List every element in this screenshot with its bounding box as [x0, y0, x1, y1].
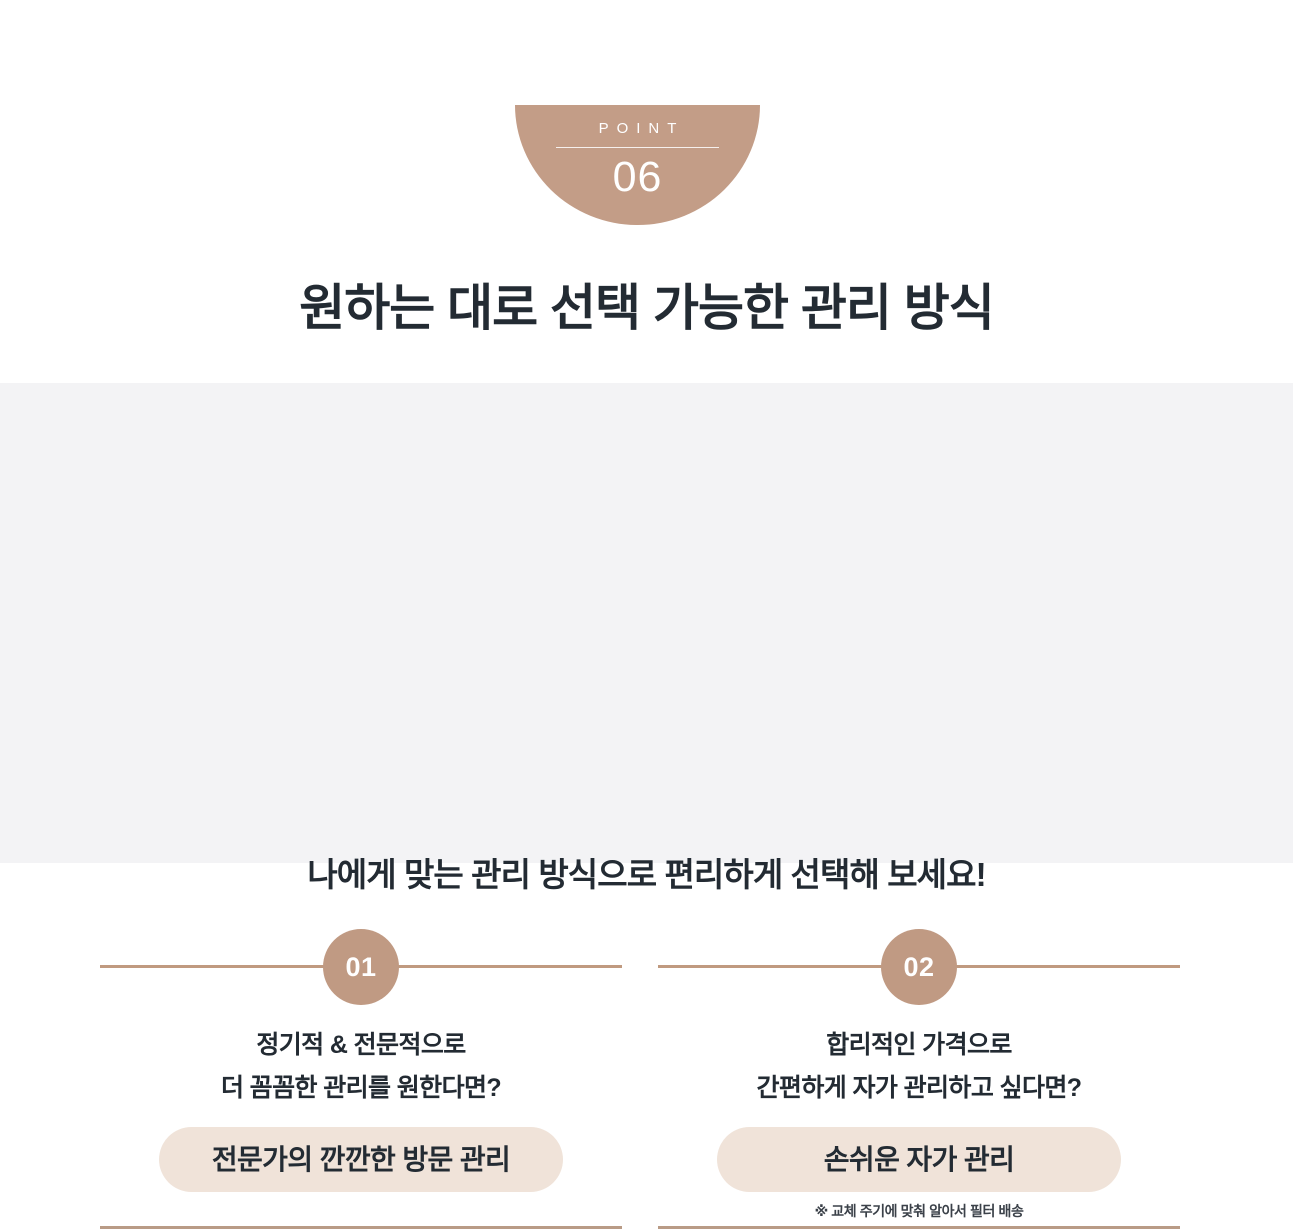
selection-panel: 나에게 맞는 관리 방식으로 편리하게 선택해 보세요! 01 정기적 & 전문… [0, 383, 1293, 863]
card-list: 01 정기적 & 전문적으로 더 꼼꼼한 관리를 원한다면? 전문가의 깐깐한 … [100, 965, 1180, 1229]
card-number-badge: 02 [881, 929, 957, 1005]
option-card-01[interactable]: 01 정기적 & 전문적으로 더 꼼꼼한 관리를 원한다면? 전문가의 깐깐한 … [100, 965, 622, 1229]
point-label: POINT [591, 121, 685, 136]
select-self-care-button[interactable]: 손쉬운 자가 관리 [717, 1127, 1121, 1192]
hero-section: POINT 06 원하는 대로 선택 가능한 관리 방식 [0, 0, 1293, 383]
point-badge-content: POINT 06 [515, 105, 760, 225]
point-badge: POINT 06 [515, 105, 760, 225]
card-heading-line-2: 더 꼼꼼한 관리를 원한다면? [221, 1074, 501, 1102]
card-heading-line-1: 합리적인 가격으로 [826, 1031, 1012, 1059]
point-divider [556, 147, 719, 148]
card-heading-line-2: 간편하게 자가 관리하고 싶다면? [757, 1074, 1082, 1102]
point-number: 06 [613, 156, 663, 199]
option-card-02[interactable]: 02 합리적인 가격으로 간편하게 자가 관리하고 싶다면? 손쉬운 자가 관리… [658, 965, 1180, 1229]
select-expert-care-button[interactable]: 전문가의 깐깐한 방문 관리 [159, 1127, 563, 1192]
card-heading-line-1: 정기적 & 전문적으로 [256, 1031, 465, 1059]
card-number-badge: 01 [323, 929, 399, 1005]
card-note: ※ 교체 주기에 맞춰 알아서 필터 배송 [658, 1201, 1180, 1221]
panel-subtitle: 나에게 맞는 관리 방식으로 편리하게 선택해 보세요! [0, 854, 1293, 897]
page-title: 원하는 대로 선택 가능한 관리 방식 [0, 277, 1293, 340]
